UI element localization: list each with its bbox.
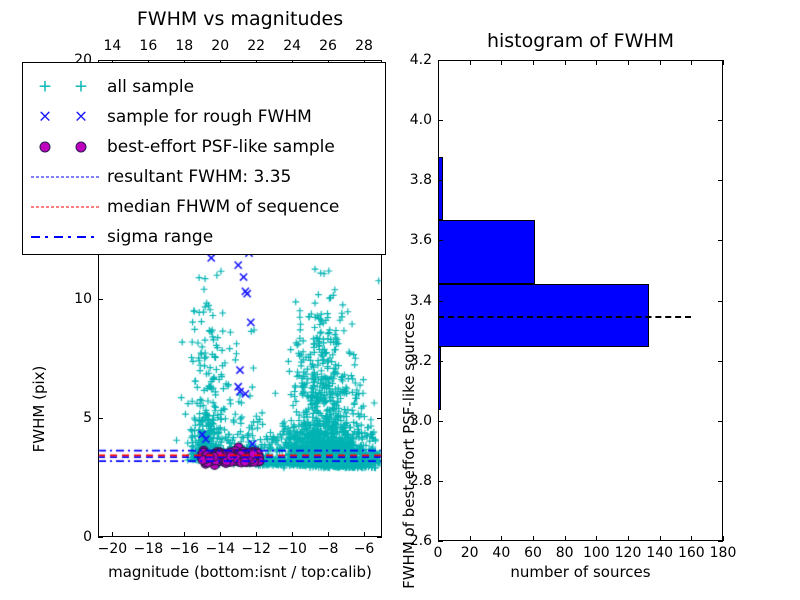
legend: ++all sample××sample for rough FWHMbest-… xyxy=(22,62,386,255)
tick-label: 0 xyxy=(434,545,443,561)
tick-mark xyxy=(470,60,471,65)
tick-mark xyxy=(718,180,723,181)
right-panel-title: histogram of FWHM xyxy=(487,30,674,52)
tick-label: 100 xyxy=(583,545,610,561)
tick-mark xyxy=(718,240,723,241)
tick-label: 3.6 xyxy=(410,232,432,248)
cross-icon: × xyxy=(74,109,88,126)
tick-label: 80 xyxy=(556,545,574,561)
right-y-axis-label: FWHM of best-effort PSF-like sources xyxy=(400,313,418,589)
histogram-bar xyxy=(438,157,443,220)
tick-label: 3.4 xyxy=(410,293,432,309)
legend-item-label: median FHWM of sequence xyxy=(107,192,339,222)
tick-mark xyxy=(220,532,221,537)
legend-item: ++all sample xyxy=(23,72,385,102)
tick-mark xyxy=(98,299,103,300)
tick-label: 16 xyxy=(139,38,157,54)
tick-label: 0 xyxy=(83,529,92,545)
tick-mark xyxy=(533,536,534,541)
tick-label: 180 xyxy=(710,545,737,561)
tick-mark xyxy=(628,60,629,65)
tick-label: 10 xyxy=(74,291,92,307)
tick-label: 14 xyxy=(103,38,121,54)
cross-icon: ×× xyxy=(23,102,107,132)
tick-label: 20 xyxy=(211,38,229,54)
tick-mark xyxy=(533,60,534,65)
tick-mark xyxy=(377,537,382,538)
legend-item-label: best-effort PSF-like sample xyxy=(107,132,335,162)
tick-mark xyxy=(364,532,365,537)
dashed-line-icon xyxy=(31,177,99,178)
tick-mark xyxy=(723,536,724,541)
tick-label: −12 xyxy=(241,541,271,557)
tick-mark xyxy=(438,301,443,302)
tick-label: −8 xyxy=(318,541,339,557)
tick-label: 18 xyxy=(175,38,193,54)
tick-mark xyxy=(438,481,443,482)
tick-mark xyxy=(98,537,103,538)
tick-mark xyxy=(438,60,443,61)
tick-mark xyxy=(148,532,149,537)
tick-mark xyxy=(718,541,723,542)
left-x-axis-label: magnitude (bottom:isnt / top:calib) xyxy=(108,563,372,581)
legend-item: best-effort PSF-like sample xyxy=(23,132,385,162)
histogram-bar xyxy=(438,347,441,410)
plus-icon: ++ xyxy=(23,72,107,102)
tick-mark xyxy=(596,60,597,65)
tick-label: 3.8 xyxy=(410,172,432,188)
tick-mark xyxy=(501,60,502,65)
tick-label: −10 xyxy=(277,541,307,557)
circle-icon xyxy=(23,132,107,162)
histogram-reference-line xyxy=(438,316,691,318)
tick-mark xyxy=(565,536,566,541)
tick-mark xyxy=(565,60,566,65)
tick-mark xyxy=(718,120,723,121)
tick-label: 60 xyxy=(524,545,542,561)
tick-mark xyxy=(660,536,661,541)
tick-mark xyxy=(691,60,692,65)
dashdot-line-icon xyxy=(23,222,107,252)
legend-item-label: resultant FWHM: 3.35 xyxy=(107,162,291,192)
tick-mark xyxy=(328,532,329,537)
tick-mark xyxy=(718,421,723,422)
tick-label: 140 xyxy=(646,545,673,561)
tick-mark xyxy=(596,536,597,541)
legend-item-label: sample for rough FWHM xyxy=(107,102,312,132)
tick-mark xyxy=(112,532,113,537)
tick-mark xyxy=(501,536,502,541)
tick-mark xyxy=(660,60,661,65)
tick-mark xyxy=(438,120,443,121)
legend-item: median FHWM of sequence xyxy=(23,192,385,222)
legend-item: sigma range xyxy=(23,222,385,252)
right-x-axis-label: number of sources xyxy=(510,563,650,581)
tick-label: 160 xyxy=(678,545,705,561)
legend-item-label: sigma range xyxy=(107,222,213,252)
cross-icon: × xyxy=(38,109,52,126)
tick-mark xyxy=(438,180,443,181)
tick-label: 20 xyxy=(461,545,479,561)
dashed-line-icon xyxy=(31,207,99,208)
tick-mark xyxy=(256,532,257,537)
tick-label: 120 xyxy=(615,545,642,561)
histogram-bar xyxy=(438,220,535,284)
tick-mark xyxy=(377,418,382,419)
tick-mark xyxy=(98,60,103,61)
dashdot-line-icon xyxy=(31,236,99,238)
tick-mark xyxy=(718,361,723,362)
plus-icon: + xyxy=(38,79,52,96)
tick-mark xyxy=(438,240,443,241)
tick-mark xyxy=(718,60,723,61)
tick-mark xyxy=(691,536,692,541)
circle-icon xyxy=(76,142,87,153)
tick-label: 4.2 xyxy=(410,52,432,68)
tick-label: 28 xyxy=(355,38,373,54)
tick-mark xyxy=(184,532,185,537)
legend-item: ××sample for rough FWHM xyxy=(23,102,385,132)
dashed-line-icon xyxy=(23,162,107,192)
tick-label: −14 xyxy=(205,541,235,557)
tick-label: −16 xyxy=(169,541,199,557)
tick-mark xyxy=(470,536,471,541)
left-y-axis-label: FWHM (pix) xyxy=(30,365,48,452)
plus-icon: + xyxy=(74,79,88,96)
tick-label: 5 xyxy=(83,410,92,426)
legend-item: resultant FWHM: 3.35 xyxy=(23,162,385,192)
tick-mark xyxy=(628,536,629,541)
legend-item-label: all sample xyxy=(107,72,194,102)
tick-mark xyxy=(718,301,723,302)
circle-icon xyxy=(40,142,51,153)
tick-mark xyxy=(292,532,293,537)
tick-label: −20 xyxy=(98,541,128,557)
tick-label: 4.0 xyxy=(410,112,432,128)
tick-label: 22 xyxy=(247,38,265,54)
tick-label: 26 xyxy=(319,38,337,54)
tick-mark xyxy=(377,60,382,61)
tick-label: −6 xyxy=(354,541,375,557)
tick-mark xyxy=(438,421,443,422)
tick-mark xyxy=(98,418,103,419)
tick-mark xyxy=(438,541,443,542)
dashed-line-icon xyxy=(23,192,107,222)
tick-mark xyxy=(723,60,724,65)
tick-mark xyxy=(377,299,382,300)
tick-label: 40 xyxy=(492,545,510,561)
tick-mark xyxy=(718,481,723,482)
tick-label: −18 xyxy=(134,541,164,557)
tick-label: 24 xyxy=(283,38,301,54)
left-panel-title: FWHM vs magnitudes xyxy=(137,8,343,30)
tick-mark xyxy=(438,361,443,362)
